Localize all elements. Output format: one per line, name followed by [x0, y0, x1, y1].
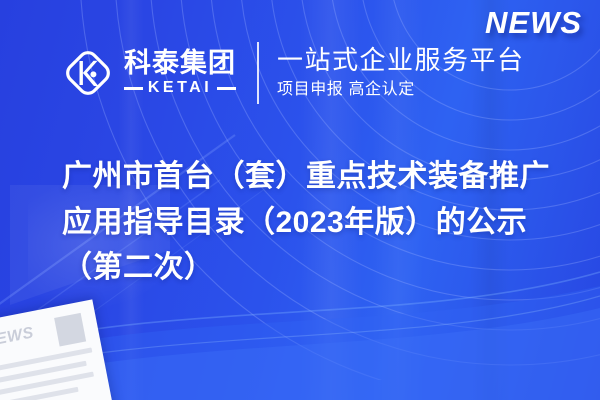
newspaper-headline: NEWS [0, 324, 35, 351]
slogan-main-text: 一站式企业服务平台 [277, 46, 525, 76]
slogan-sub-text: 项目申报 高企认定 [277, 80, 525, 101]
brand-logo-wordmark: 科泰集团 KETAI [124, 50, 236, 96]
header-divider [257, 42, 259, 104]
brand-name-en: KETAI [143, 80, 217, 96]
ketai-diamond-k-logo-icon [62, 47, 114, 99]
slogan-block: 一站式企业服务平台 项目申报 高企认定 [277, 46, 525, 101]
newspaper-thumbnail [54, 313, 86, 347]
logo-dash-left [124, 87, 143, 90]
news-wordmark: NEWS [485, 5, 582, 41]
banner-header: 科泰集团 KETAI 一站式企业服务平台 项目申报 高企认定 [0, 34, 600, 112]
brand-name-cn: 科泰集团 [124, 50, 236, 77]
brand-name-en-row: KETAI [124, 80, 236, 96]
article-title: 广州市首台（套）重点技术装备推广应用指导目录（2023年版）的公示（第二次） [62, 154, 562, 291]
logo-dash-right [217, 87, 236, 90]
news-banner: 科泰集团 KETAI 一站式企业服务平台 项目申报 高企认定 NEWS 广州市首… [0, 0, 600, 400]
brand-logo[interactable]: 科泰集团 KETAI [62, 47, 236, 99]
